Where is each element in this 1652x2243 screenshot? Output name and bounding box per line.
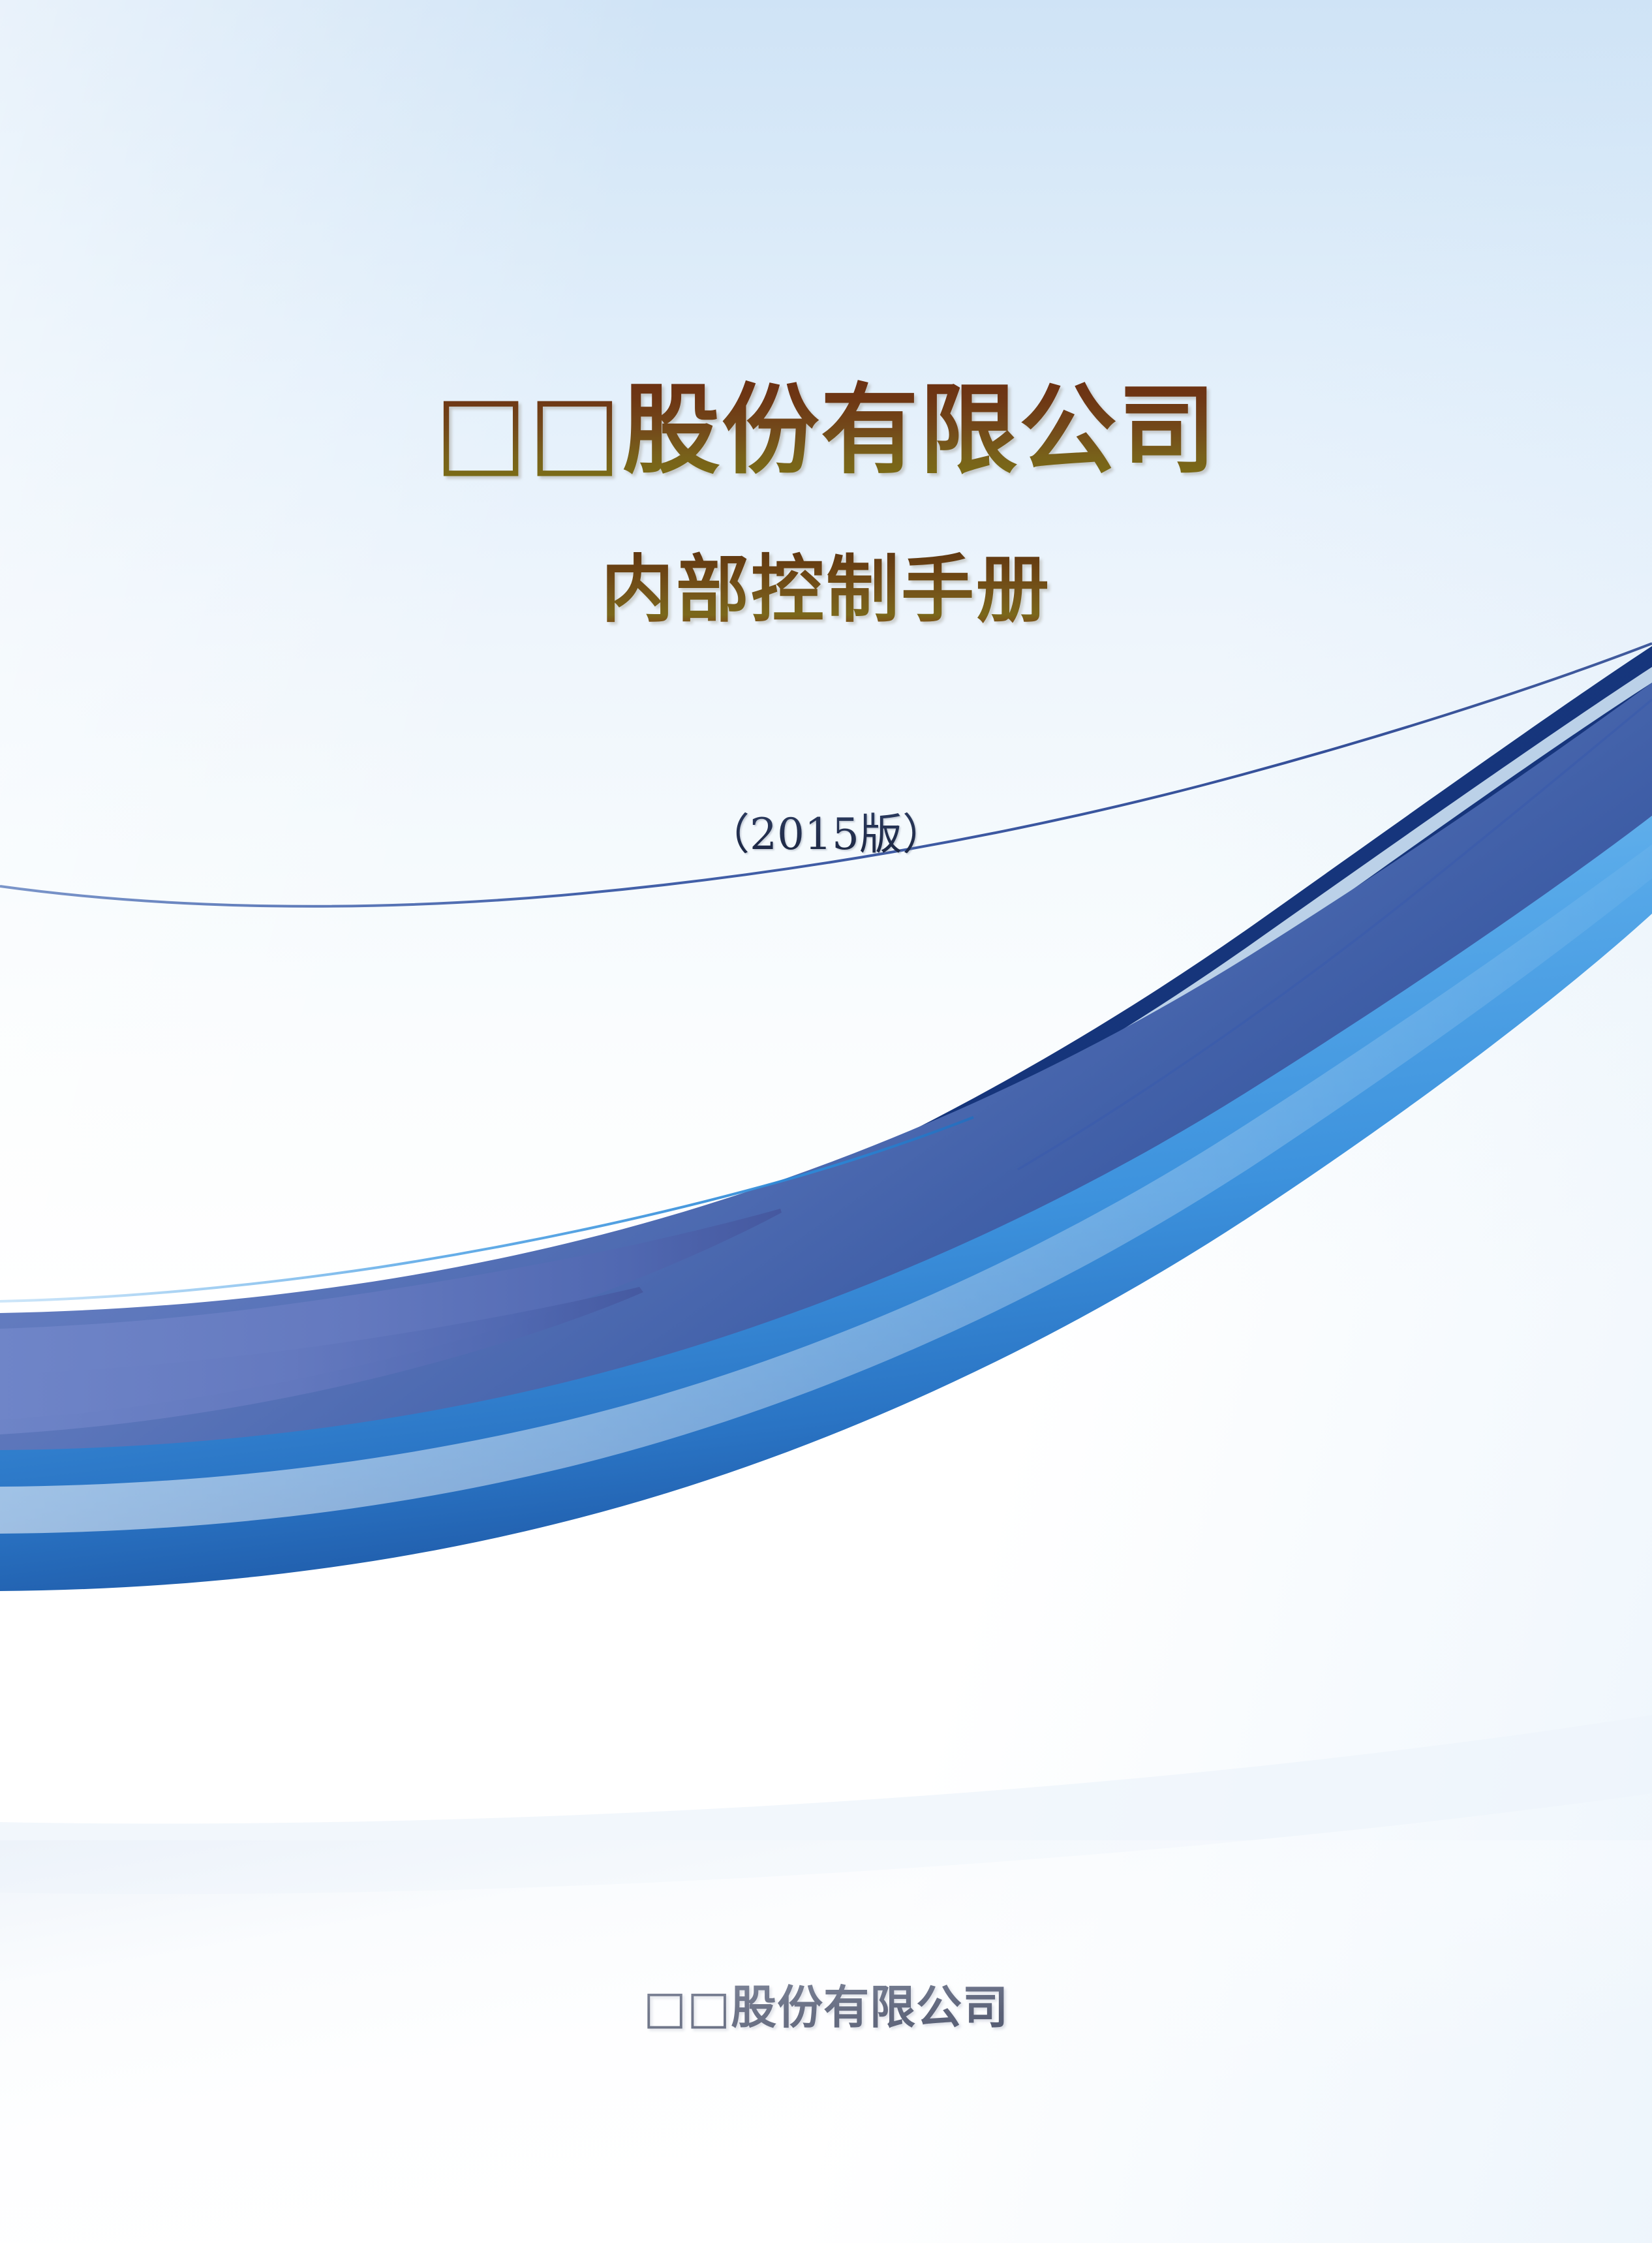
- page-title-company: □□股份有限公司: [0, 376, 1652, 486]
- version-label: （2015版）: [0, 811, 1652, 859]
- background-bottom-tint: [0, 1840, 1652, 2243]
- page-subtitle-manual: 内部控制手册: [0, 549, 1652, 631]
- document-cover-page: □□股份有限公司 内部控制手册 （2015版） □□股份有限公司: [0, 0, 1652, 2243]
